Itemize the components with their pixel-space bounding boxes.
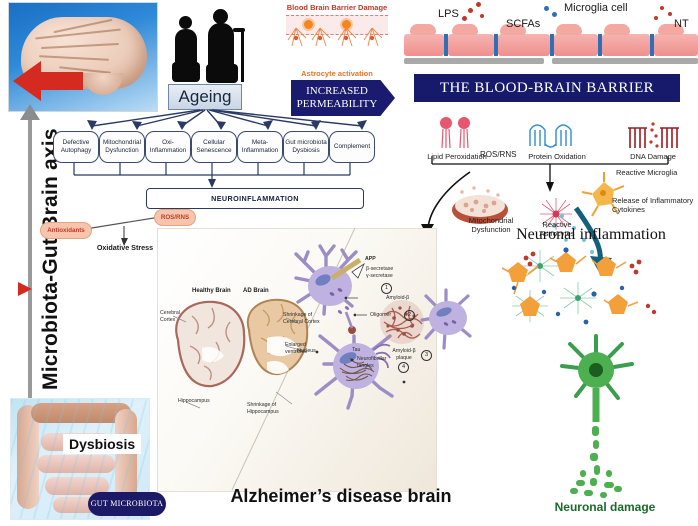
bbb-damage-title: Blood Brain Barrier Damage — [282, 3, 392, 12]
ageing-label: Ageing — [168, 84, 242, 110]
cerebral-cortex-label: Cerebral Cortex — [160, 310, 190, 323]
figure-canvas: Microbiota-Gut-Brain axis Ageing Blood B… — [0, 0, 698, 526]
beta-secretase-label: β-secretase — [366, 266, 393, 273]
increased-permeability-banner: INCREASED PERMEABILITY — [291, 80, 395, 116]
gut-microbiota-badge: GUT MICROBIOTA — [88, 492, 166, 516]
protein-oxidation-label: Protein Oxidation — [512, 152, 602, 161]
flow-box-mitochondrial-dysfunction[interactable]: Mitochondrial Dysfunction — [99, 131, 145, 163]
bbb-label-scfas: SCFAs — [506, 18, 540, 30]
alzheimer-caption: Alzheimer’s disease brain — [186, 486, 496, 507]
hippocampus-label: Hippocampus — [178, 398, 212, 405]
neuronal-inflammation-title: Neuronal inflammation — [484, 226, 698, 244]
flow-box-oxi-inflammation[interactable]: Oxi-Inflammation — [145, 131, 191, 163]
step-4-marker: 4 — [398, 362, 409, 373]
permeability-line2: PERMEABILITY — [297, 98, 378, 111]
flow-box-defective-autophagy[interactable]: Defective Autophagy — [53, 131, 99, 163]
bbb-label-lps: LPS — [438, 8, 459, 20]
flow-box-gut-microbiota-dysbiosis[interactable]: Gut microbiota Dysbiosis — [283, 131, 329, 163]
neuroinflammation-box[interactable]: NEUROINFLAMMATION — [146, 188, 364, 209]
ros-rns-label: ROS/RNS — [480, 150, 516, 159]
astrocyte-activation-label: Astrocyte activation — [282, 69, 392, 78]
step-1-marker: 1 — [381, 283, 392, 294]
oligomer-label: Oligomer — [370, 312, 391, 319]
axis-arrow-up-icon — [20, 104, 40, 120]
amyloid-plaque-label: Amyloid-β plaque — [390, 348, 418, 361]
red-arrow-icon — [11, 59, 85, 103]
dysbiosis-label: Dysbiosis — [63, 434, 141, 454]
gamma-secretase-label: γ-secretase — [366, 273, 393, 280]
reactive-microglia-label: Reactive Microglia — [616, 168, 680, 177]
flow-box-complement[interactable]: Complement — [329, 131, 375, 163]
brain-photo — [8, 2, 158, 112]
inflammatory-cytokines-label: Release of Inflammatory Cytokines — [612, 196, 696, 214]
healthy-brain-label: Healthy Brain — [192, 288, 231, 294]
ad-brain-label: AD Brain — [243, 288, 269, 294]
shrinkage-cortex-label: Shrinkage of Cerebral Cortex — [283, 312, 327, 325]
app-label: APP — [365, 256, 376, 263]
bbb-label-nt: NT — [674, 18, 689, 30]
neuronal-damage-label: Neuronal damage — [530, 500, 680, 514]
ros-rns-pill: ROS/RNS — [154, 209, 196, 226]
bbb-damage-illustration: Blood Brain Barrier Damage Astrocyte act… — [282, 2, 392, 80]
dna-damage-label: DNA Damage — [608, 152, 698, 161]
step-3-marker: 3 — [421, 350, 432, 361]
flow-box-cellular-senescence[interactable]: Cellular Senescence — [191, 131, 237, 163]
amyloid-beta-label: Amyloid-β — [386, 295, 409, 302]
permeability-line1: INCREASED — [306, 85, 368, 98]
shrinkage-hippocampus-label: Shrinkage of Hippocampus — [247, 402, 293, 415]
nucleus-label: Nucleus — [297, 348, 316, 355]
bbb-label-microglia: Microglia cell — [564, 2, 628, 14]
axis-red-marker-icon — [18, 282, 32, 296]
tau-label: Tau — [352, 347, 360, 354]
bbb-title-banner: THE BLOOD-BRAIN BARRIER — [414, 74, 680, 102]
ageing-illustration — [163, 2, 281, 84]
axis-shaft — [28, 114, 32, 410]
step-2-marker: 2 — [404, 310, 415, 321]
axis-label: Microbiota-Gut-Brain axis — [39, 130, 63, 390]
flow-box-meta-inflammation[interactable]: Meta-Inflammation — [237, 131, 283, 163]
antioxidants-pill: Antioxidants — [40, 222, 92, 239]
neurofibrillar-tangles-label: Neurofibrillar tangles — [357, 356, 391, 369]
